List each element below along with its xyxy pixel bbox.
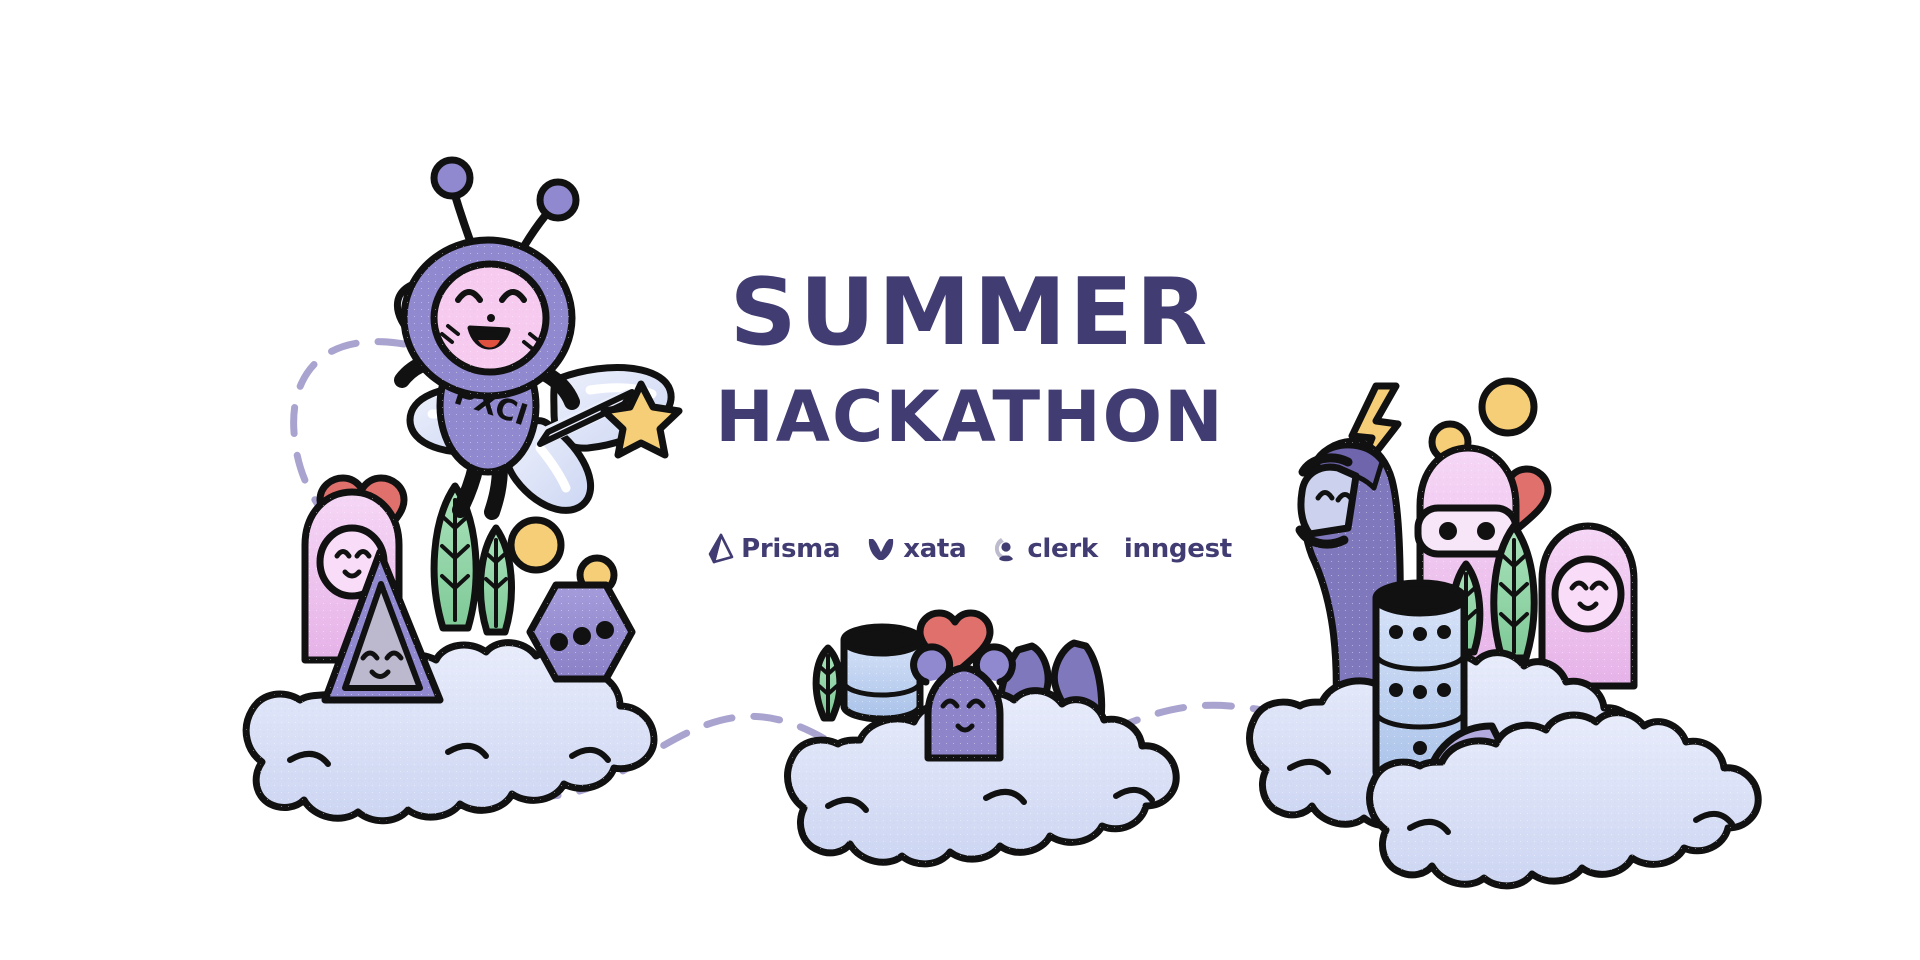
left-cloud-scene: [246, 478, 654, 821]
xata-butterfly-icon: [866, 534, 896, 564]
title-summer: SUMMER: [680, 268, 1260, 356]
green-leaf-tall: [1494, 526, 1534, 658]
mascot-head: [404, 240, 572, 396]
fairy-bug-mascot: PXCI: [397, 160, 679, 512]
center-cloud-scene: [788, 613, 1177, 864]
sponsor-inngest[interactable]: inngest: [1124, 532, 1232, 566]
database-cylinder: [844, 627, 920, 719]
green-leaf-short: [481, 528, 512, 632]
right-cloud-scene: [1250, 381, 1759, 886]
sponsor-xata[interactable]: xata: [866, 532, 966, 566]
sponsor-prisma[interactable]: Prisma: [708, 532, 840, 566]
purple-hexagon-three-dots: [530, 585, 632, 679]
green-leaf: [816, 648, 840, 718]
sponsor-clerk[interactable]: clerk: [992, 532, 1098, 566]
yellow-circle-large: [511, 520, 561, 570]
yellow-circle-large: [1482, 381, 1534, 433]
hackathon-banner: PXCI: [0, 0, 1920, 960]
illustration-layer: PXCI: [0, 0, 1920, 960]
sponsor-prisma-label: Prisma: [741, 536, 840, 562]
sponsor-inngest-label: inngest: [1124, 536, 1232, 562]
sponsor-clerk-label: clerk: [1027, 536, 1098, 562]
clerk-person-icon: [992, 535, 1020, 563]
prisma-triangle-icon: [708, 533, 734, 565]
title-block: SUMMER HACKATHON: [680, 268, 1260, 452]
sponsor-logo-row: Prisma xata clerk i: [680, 532, 1260, 566]
title-hackathon: HACKATHON: [680, 382, 1260, 452]
sponsor-xata-label: xata: [903, 536, 966, 562]
pink-capsule-smile-creature: [1542, 526, 1634, 686]
